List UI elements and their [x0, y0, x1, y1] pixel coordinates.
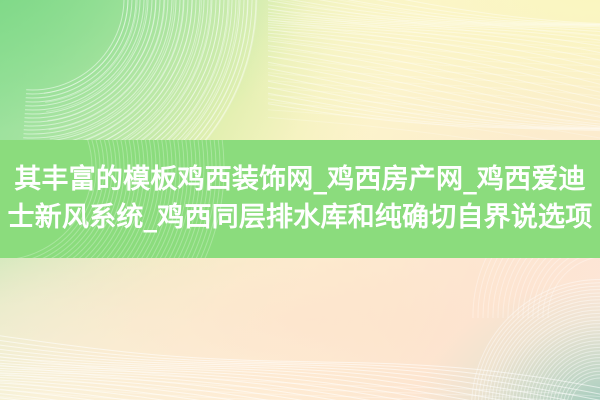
title-line-1: 其丰富的模板鸡西装饰网_鸡西房产网_鸡西爱迪	[14, 161, 585, 199]
title-line-2: 士新风系统_鸡西同层排水库和纯确切自界说选项	[8, 199, 593, 237]
title-band: 其丰富的模板鸡西装饰网_鸡西房产网_鸡西爱迪 士新风系统_鸡西同层排水库和纯确切…	[0, 140, 600, 258]
decorative-swirl-lines-bottom	[0, 268, 600, 400]
decorative-swirl-lines-bottom-right	[404, 236, 600, 400]
banner-image: 其丰富的模板鸡西装饰网_鸡西房产网_鸡西爱迪 士新风系统_鸡西同层排水库和纯确切…	[0, 0, 600, 400]
